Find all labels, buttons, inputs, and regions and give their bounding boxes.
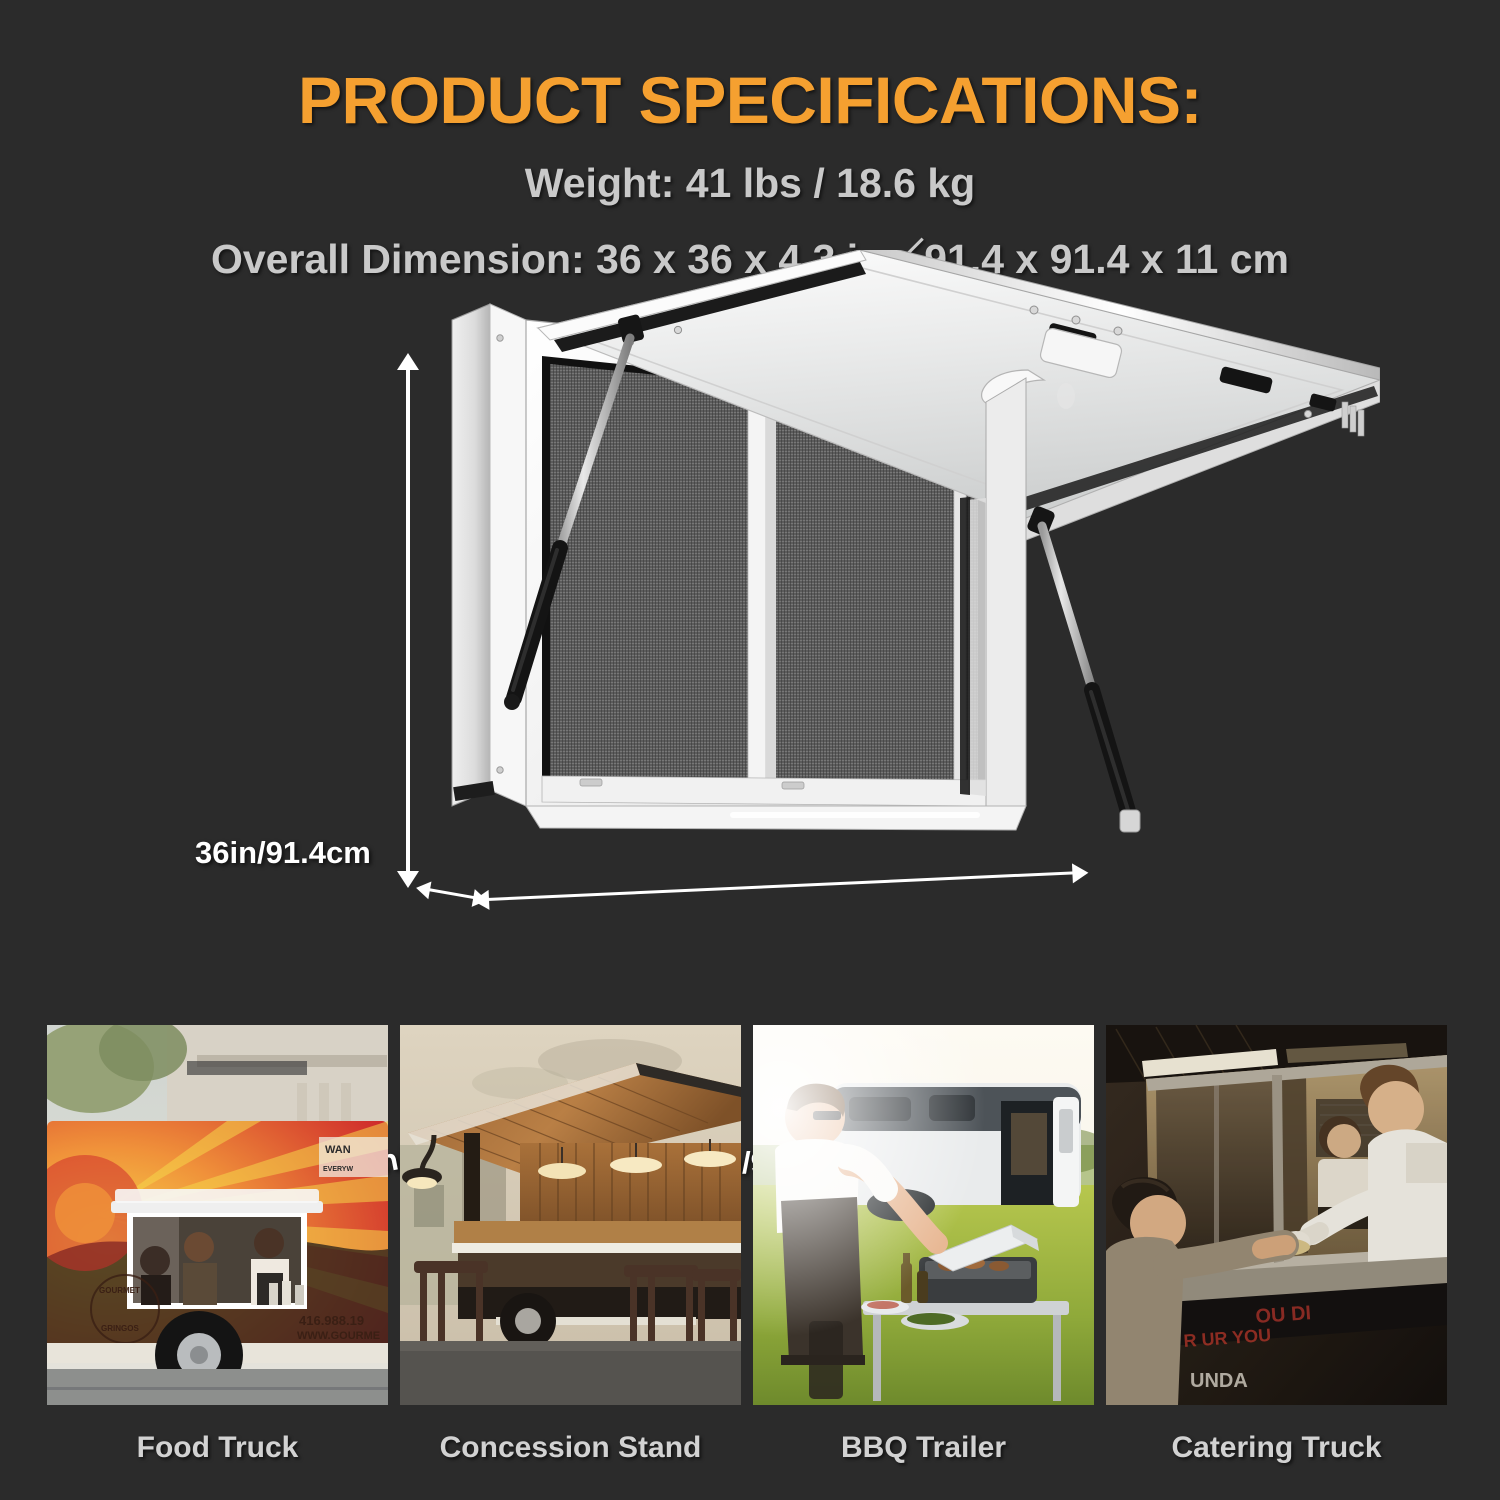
width-dimension-arrow-icon (487, 871, 1075, 901)
food-truck-photo: WAN EVERYW 416.988.19 WWW.GOURME GOURMET… (47, 1025, 388, 1405)
svg-text:416.988.19: 416.988.19 (299, 1313, 364, 1328)
svg-text:WWW.GOURME: WWW.GOURME (297, 1330, 380, 1342)
window-depth-flange (452, 304, 526, 806)
catering-truck-photo: OU DI R UR YOU UNDA (1106, 1025, 1447, 1405)
bbq-trailer-photo (753, 1025, 1094, 1405)
product-stage: 36in/91.4cm 36in/91.4cm 4.3in/11CM (0, 250, 1500, 990)
use-case-caption: Catering Truck (1106, 1431, 1447, 1465)
center-mullion (748, 385, 766, 781)
use-case-gallery: WAN EVERYW 416.988.19 WWW.GOURME GOURMET… (47, 1025, 1453, 1465)
spec-header: PRODUCT SPECIFICATIONS: Weight: 41 lbs /… (0, 0, 1500, 285)
gas-strut-right (1026, 505, 1140, 832)
height-dimension-label: 36in/91.4cm (195, 835, 371, 871)
spec-weight: Weight: 41 lbs / 18.6 kg (0, 160, 1500, 207)
use-case-catering-truck: OU DI R UR YOU UNDA Catering Truck (1106, 1025, 1447, 1465)
use-case-concession-stand: Concession Stand (400, 1025, 741, 1465)
use-case-caption: Food Truck (47, 1431, 388, 1465)
concession-stand-photo (400, 1025, 741, 1405)
svg-text:WAN: WAN (325, 1144, 351, 1156)
svg-text:EVERYW: EVERYW (323, 1166, 353, 1173)
concession-window-product-image (430, 250, 1380, 870)
height-dimension-arrow-icon (406, 368, 410, 873)
svg-text:GRINGOS: GRINGOS (101, 1324, 139, 1333)
use-case-caption: BBQ Trailer (753, 1431, 1094, 1465)
use-case-food-truck: WAN EVERYW 416.988.19 WWW.GOURME GOURMET… (47, 1025, 388, 1465)
svg-text:GOURMET: GOURMET (99, 1286, 140, 1295)
use-case-caption: Concession Stand (400, 1431, 741, 1465)
use-case-bbq-trailer: BBQ Trailer (753, 1025, 1094, 1465)
page-title: PRODUCT SPECIFICATIONS: (0, 62, 1500, 138)
depth-dimension-arrow-icon (428, 888, 476, 899)
